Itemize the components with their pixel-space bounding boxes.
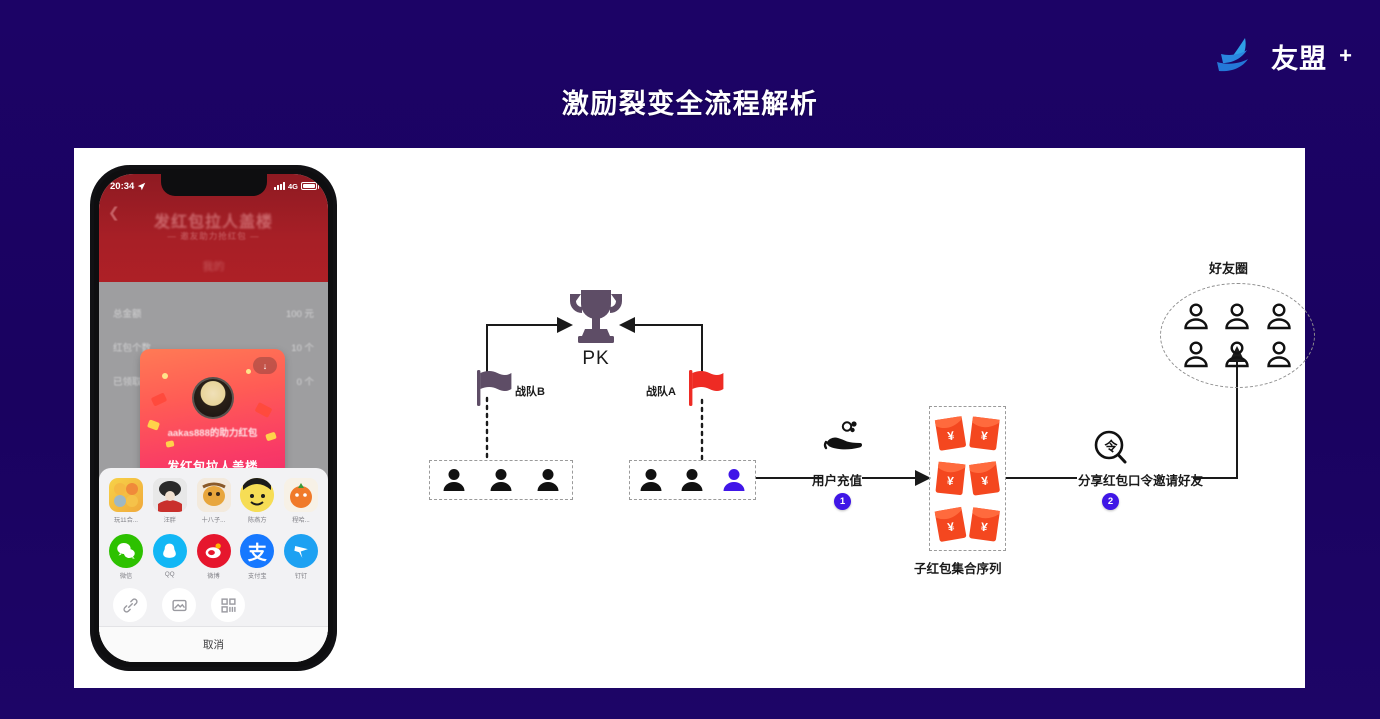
person-outline-icon — [1266, 341, 1292, 369]
person-outline-icon — [1266, 303, 1292, 331]
brand-plus: + — [1339, 43, 1352, 69]
person-icon — [488, 467, 514, 493]
team-b-label: 战队B — [515, 383, 545, 399]
person-icon — [638, 467, 664, 493]
team-b-flag-icon — [475, 370, 513, 406]
trophy-icon — [564, 286, 628, 348]
content-panel: ❮ 发红包拉人盖楼 — 邀友助力抢红包 — 我的 总金额 100 元 红包个数 … — [74, 148, 1305, 688]
alipay-icon: 支 — [240, 534, 274, 568]
red-packet-icon: ¥ — [933, 459, 968, 498]
step1-badge: 1 — [834, 493, 851, 510]
step2-badge: 2 — [1102, 493, 1119, 510]
red-packet-collection: ¥ ¥ ¥ ¥ ¥ ¥ — [929, 406, 1006, 551]
share-apps-row: 微信 QQ 微博 — [99, 524, 328, 580]
share-app-weibo[interactable]: 微博 — [193, 534, 235, 580]
qrcode-icon — [211, 588, 245, 622]
share-contacts-row: 玩11合... 汪胖 十八子... — [99, 468, 328, 524]
info-row-label: 已领取 — [113, 374, 142, 388]
friends-grid — [1175, 298, 1300, 374]
avatar-icon — [197, 478, 231, 512]
share-app-label: 支付宝 — [236, 571, 278, 580]
user-avatar-icon — [192, 377, 234, 419]
person-icon-highlighted — [721, 467, 747, 493]
share-contact-label: 玩11合... — [105, 515, 147, 524]
image-icon — [162, 588, 196, 622]
avatar-icon — [284, 478, 318, 512]
person-outline-icon — [1183, 303, 1209, 331]
share-app-wechat[interactable]: 微信 — [105, 534, 147, 580]
info-row-value: 100 元 — [286, 306, 314, 320]
signal-bars-icon — [274, 182, 285, 190]
red-packet-icon: ¥ — [967, 504, 1003, 544]
wechat-icon — [109, 534, 143, 568]
red-packet-icon: ¥ — [967, 459, 1003, 499]
friends-circle-label: 好友圈 — [1209, 258, 1248, 277]
share-sheet: 玩11合... 汪胖 十八子... — [99, 468, 328, 662]
phone-screen: ❮ 发红包拉人盖楼 — 邀友助力抢红包 — 我的 总金额 100 元 红包个数 … — [99, 174, 328, 662]
red-packet-icon: ¥ — [932, 413, 968, 453]
share-app-label: 钉钉 — [280, 571, 322, 580]
share-app-label: 微博 — [193, 571, 235, 580]
red-packet-icon: ¥ — [967, 413, 1002, 453]
info-row-value: 10 个 — [291, 340, 314, 354]
share-app-qq[interactable]: QQ — [149, 534, 191, 580]
step1-label: 用户充值 — [812, 470, 862, 489]
step2-label: 分享红包口令邀请好友 — [1078, 470, 1203, 489]
share-cancel-button[interactable]: 取消 — [99, 626, 328, 662]
brand-logo: 友盟 + — [1215, 36, 1352, 76]
share-contact-item[interactable]: 十八子... — [193, 478, 235, 524]
person-icon — [679, 467, 705, 493]
pk-label: PK — [564, 348, 628, 370]
team-a-flag-icon — [687, 370, 725, 406]
slide-root: 友盟 + 激励裂变全流程解析 ❮ 发红包拉人盖楼 — 邀友助力抢红包 — 我的 … — [0, 0, 1380, 719]
share-contact-label: 程哈... — [280, 515, 322, 524]
diagram-connectors — [357, 148, 1305, 688]
avatar-icon — [153, 478, 187, 512]
team-a-label: 战队A — [646, 383, 676, 399]
phone-hero-sub: — 邀友助力抢红包 — — [99, 230, 328, 242]
group-avatar-icon — [109, 478, 143, 512]
share-contact-label: 陈燕方 — [236, 515, 278, 524]
status-time: 20:34 — [110, 181, 134, 192]
person-icon — [441, 467, 467, 493]
packets-label: 子红包集合序列 — [914, 558, 1002, 577]
card-owner-label: aakas888的助力红包 — [140, 425, 285, 439]
team-a-member-box — [629, 460, 756, 500]
info-row: 总金额 100 元 — [113, 306, 314, 320]
phone-hero-title: 发红包拉人盖楼 — [99, 208, 328, 232]
phone-notch — [161, 174, 267, 196]
red-packet-icon: ¥ — [932, 504, 969, 545]
share-app-alipay[interactable]: 支 支付宝 — [236, 534, 278, 580]
team-b-member-box — [429, 460, 573, 500]
person-outline-icon — [1224, 341, 1250, 369]
person-icon — [535, 467, 561, 493]
location-arrow-icon — [137, 182, 146, 191]
info-row-label: 总金额 — [113, 306, 142, 320]
link-icon — [113, 588, 147, 622]
flow-diagram: PK 战队B 战队A — [357, 148, 1305, 688]
share-contact-label: 汪胖 — [149, 515, 191, 524]
weibo-icon — [197, 534, 231, 568]
phone-mockup: ❮ 发红包拉人盖楼 — 邀友助力抢红包 — 我的 总金额 100 元 红包个数 … — [90, 165, 337, 671]
share-app-label: QQ — [149, 571, 191, 578]
share-app-dingtalk[interactable]: 钉钉 — [280, 534, 322, 580]
phone-hero-tab: 我的 — [99, 258, 328, 274]
dingtalk-icon — [284, 534, 318, 568]
share-contact-item[interactable]: 陈燕方 — [236, 478, 278, 524]
brand-name: 友盟 — [1271, 37, 1327, 76]
battery-icon — [301, 182, 317, 190]
person-outline-icon — [1183, 341, 1209, 369]
page-title: 激励裂变全流程解析 — [0, 82, 1380, 121]
share-app-label: 微信 — [105, 571, 147, 580]
hand-coin-icon — [823, 420, 863, 456]
share-contact-item[interactable]: 程哈... — [280, 478, 322, 524]
info-row-value: 0 个 — [297, 374, 314, 388]
download-icon[interactable]: ↓ — [253, 357, 277, 374]
person-outline-icon — [1224, 303, 1250, 331]
status-network: 4G — [288, 182, 298, 191]
share-contact-label: 十八子... — [193, 515, 235, 524]
umeng-bird-logo-icon — [1215, 36, 1261, 76]
avatar-icon — [240, 478, 274, 512]
share-contact-item[interactable]: 汪胖 — [149, 478, 191, 524]
token-glyph: 令 — [1093, 430, 1129, 460]
qq-icon — [153, 534, 187, 568]
share-contact-item[interactable]: 玩11合... — [105, 478, 147, 524]
